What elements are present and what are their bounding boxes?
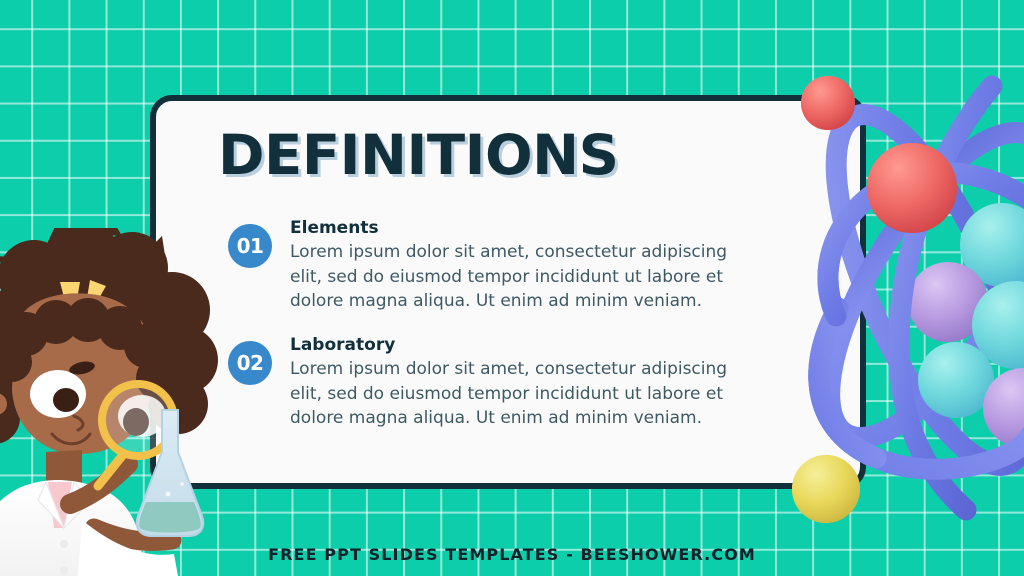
item-number-badge: 01: [228, 224, 272, 268]
footer-credit: FREE PPT SLIDES TEMPLATES - BEESHOWER.CO…: [0, 545, 1024, 564]
page-title: DEFINITIONS: [218, 128, 618, 183]
molecule-illustration: [780, 40, 1024, 540]
yellow-sphere: [792, 455, 860, 523]
item-heading: Laboratory: [290, 335, 738, 355]
list-item: 01 Elements Lorem ipsum dolor sit amet, …: [228, 218, 738, 313]
character-illustration: [0, 228, 226, 576]
slide-canvas: DEFINITIONS 01 Elements Lorem ipsum dolo…: [0, 0, 1024, 576]
list-item: 02 Laboratory Lorem ipsum dolor sit amet…: [228, 335, 738, 430]
eye: [30, 370, 86, 418]
item-number-badge: 02: [228, 341, 272, 385]
content-card: DEFINITIONS 01 Elements Lorem ipsum dolo…: [150, 95, 866, 489]
item-body-text: Lorem ipsum dolor sit amet, consectetur …: [290, 240, 764, 312]
red-sphere-small: [801, 76, 855, 130]
red-sphere-large: [867, 143, 957, 233]
item-heading: Elements: [290, 218, 738, 238]
item-body-text: Lorem ipsum dolor sit amet, consectetur …: [290, 357, 764, 429]
